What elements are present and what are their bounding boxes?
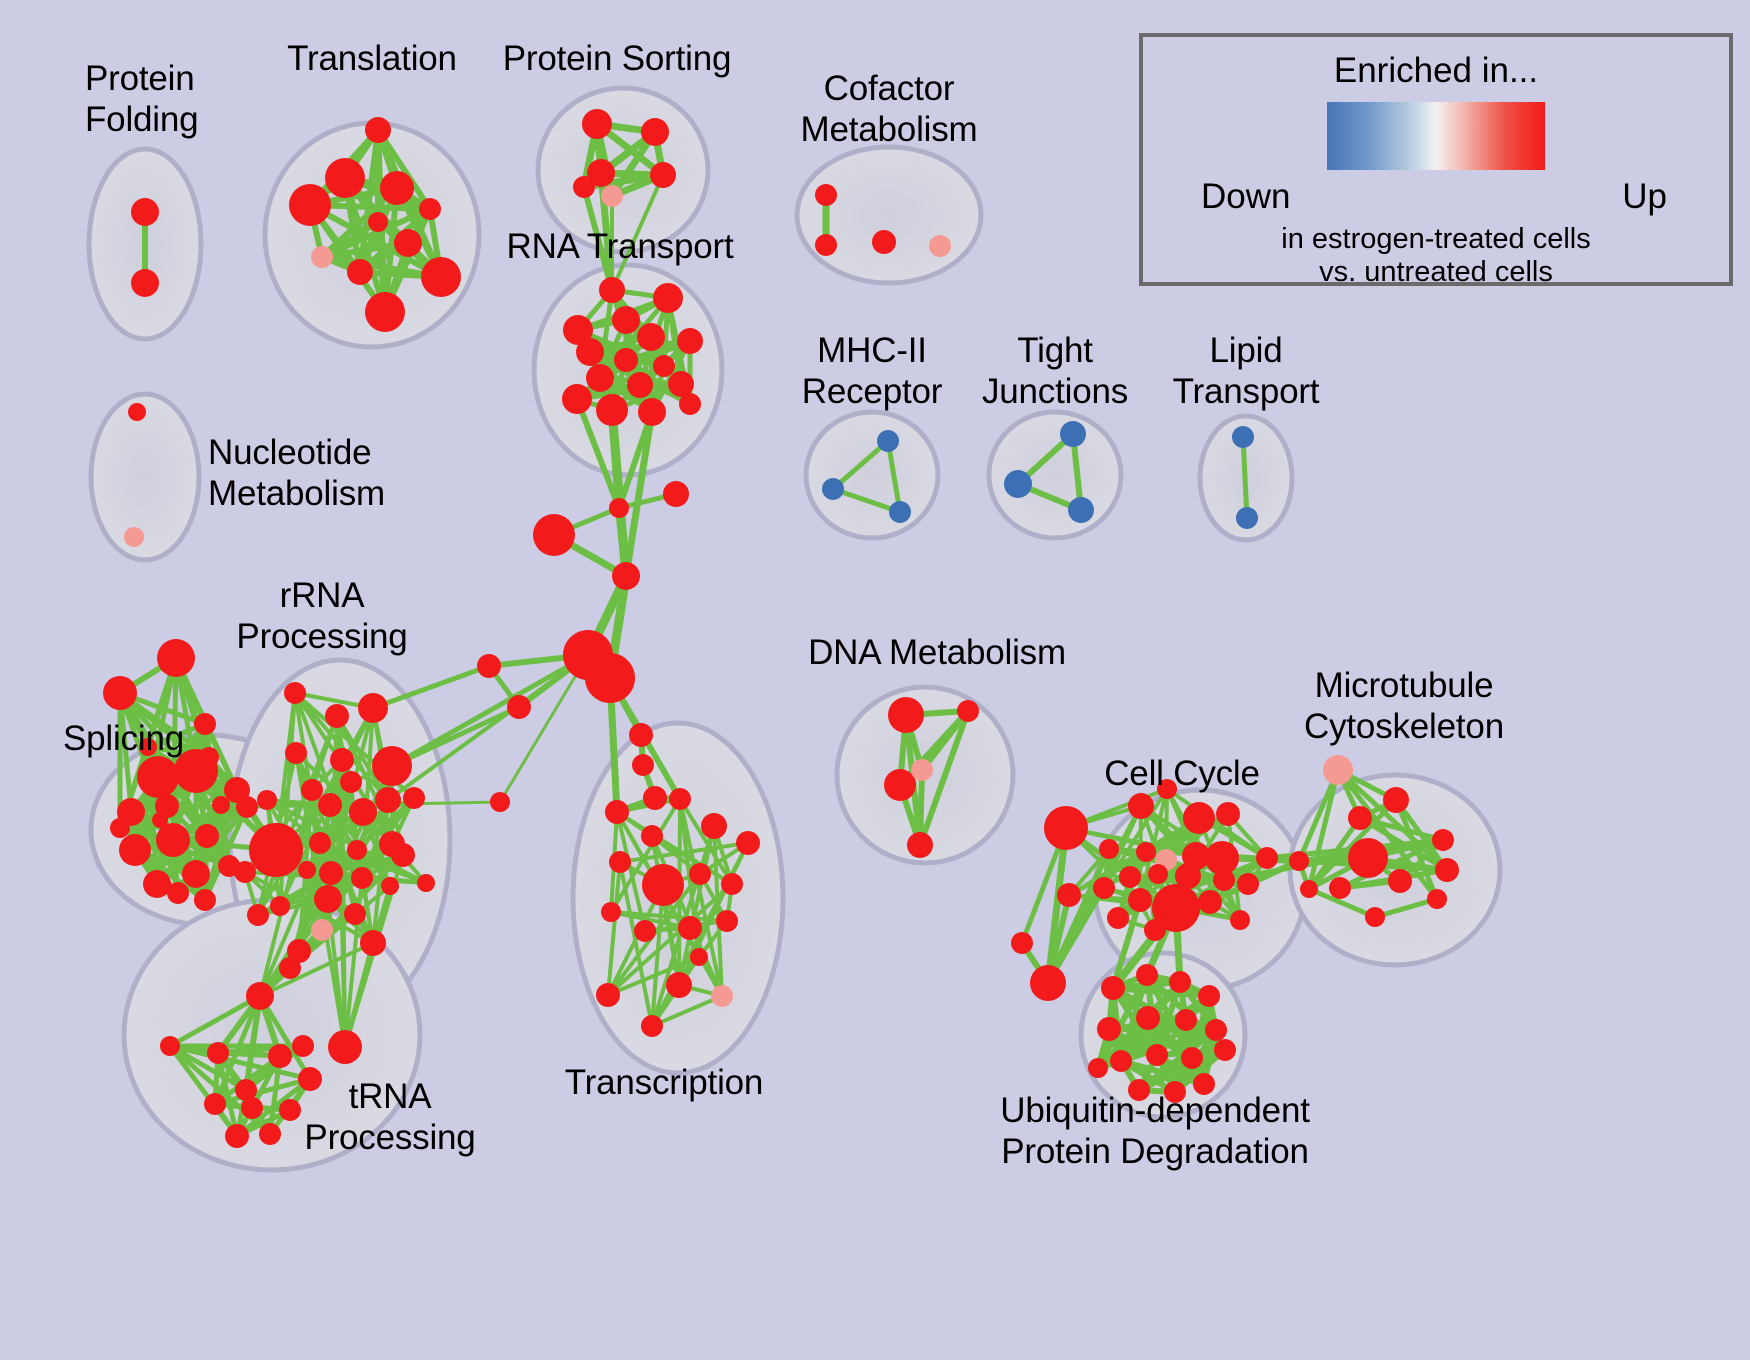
network-node — [1183, 802, 1215, 834]
network-node — [212, 796, 230, 814]
network-node — [325, 704, 349, 728]
network-node — [156, 823, 190, 857]
network-node — [340, 771, 362, 793]
network-node — [1093, 877, 1115, 899]
network-node — [533, 514, 575, 556]
network-node — [911, 759, 933, 781]
network-node — [314, 885, 342, 913]
network-node — [689, 863, 711, 885]
network-node — [612, 562, 640, 590]
network-node — [1144, 919, 1166, 941]
network-node — [1432, 829, 1454, 851]
network-node — [1198, 890, 1222, 914]
legend-color-bar — [1327, 102, 1545, 170]
network-node — [1329, 877, 1351, 899]
network-node — [1383, 787, 1409, 813]
network-node — [1348, 838, 1388, 878]
network-node — [194, 889, 216, 911]
network-node — [311, 246, 333, 268]
network-node — [1004, 470, 1032, 498]
network-node — [1236, 507, 1258, 529]
network-node — [663, 481, 689, 507]
network-node — [1348, 806, 1372, 830]
network-node — [1256, 847, 1278, 869]
network-node — [1119, 866, 1141, 888]
network-node — [1169, 971, 1191, 993]
network-node — [929, 235, 951, 257]
network-node — [907, 832, 933, 858]
network-node — [1128, 888, 1152, 912]
network-node — [599, 277, 625, 303]
network-node — [690, 948, 708, 966]
network-node — [351, 867, 373, 889]
network-node — [358, 693, 388, 723]
network-node — [1107, 907, 1129, 929]
network-node — [1110, 1050, 1132, 1072]
network-node — [365, 292, 405, 332]
enrichment-network-figure: Protein FoldingTranslationProtein Sortin… — [0, 0, 1750, 1360]
network-node — [653, 283, 683, 313]
network-node — [634, 920, 656, 942]
cluster-label: tRNA Processing — [304, 1076, 475, 1158]
network-node — [1057, 883, 1081, 907]
network-node — [225, 1124, 249, 1148]
network-node — [1060, 421, 1086, 447]
cluster-label: Translation — [287, 38, 457, 79]
network-node — [380, 171, 414, 205]
network-node — [884, 769, 916, 801]
network-node — [301, 779, 323, 801]
network-node — [182, 860, 210, 888]
network-node — [1237, 873, 1259, 895]
network-node — [167, 882, 189, 904]
cluster-label: Splicing — [63, 718, 184, 759]
network-node — [716, 910, 738, 932]
network-node — [1097, 1017, 1121, 1041]
network-node — [236, 796, 258, 818]
network-node — [490, 792, 510, 812]
network-node — [137, 756, 179, 798]
network-node — [372, 746, 412, 786]
network-node — [1099, 839, 1119, 859]
network-node — [194, 713, 216, 735]
network-node — [1427, 889, 1447, 909]
network-node — [1289, 851, 1309, 871]
network-node — [641, 1015, 663, 1037]
network-node — [477, 654, 501, 678]
network-node — [1435, 858, 1459, 882]
network-node — [609, 498, 629, 518]
network-node — [131, 198, 159, 226]
network-node — [957, 700, 979, 722]
legend-subtitle-line2: vs. untreated cells — [1143, 256, 1729, 289]
network-node — [325, 158, 365, 198]
network-node — [638, 398, 666, 426]
network-node — [612, 306, 640, 334]
network-node — [507, 695, 531, 719]
cluster-label: RNA Transport — [507, 226, 734, 267]
network-node — [586, 364, 614, 392]
network-node — [1323, 755, 1353, 785]
network-node — [877, 430, 899, 452]
network-node — [270, 896, 290, 916]
network-node — [330, 748, 354, 772]
network-node — [311, 919, 333, 941]
network-node — [319, 861, 343, 885]
cluster-label: Microtubule Cytoskeleton — [1304, 665, 1504, 747]
network-node — [669, 788, 691, 810]
cluster-label: Protein Sorting — [503, 38, 732, 79]
network-node — [257, 790, 277, 810]
network-node — [1214, 1039, 1236, 1061]
network-node — [822, 478, 844, 500]
network-node — [349, 798, 377, 826]
network-node — [1128, 793, 1154, 819]
network-node — [391, 843, 415, 867]
network-node — [1181, 1047, 1203, 1069]
network-node — [815, 234, 837, 256]
network-node — [1030, 965, 1066, 1001]
network-node — [1175, 1009, 1197, 1031]
cluster-label: MHC-II Receptor — [802, 330, 942, 412]
network-node — [298, 861, 316, 879]
network-node — [318, 793, 342, 817]
network-node — [1365, 907, 1385, 927]
network-node — [246, 982, 274, 1010]
cluster-hull — [91, 394, 199, 560]
network-node — [629, 723, 653, 747]
network-node — [375, 787, 401, 813]
network-node — [1205, 1019, 1227, 1041]
cluster-label: Lipid Transport — [1173, 330, 1320, 412]
network-node — [650, 162, 676, 188]
network-node — [1136, 1006, 1160, 1030]
network-node — [601, 185, 623, 207]
network-node — [1216, 802, 1240, 826]
network-node — [309, 832, 331, 854]
network-node — [1136, 964, 1158, 986]
network-node — [1213, 869, 1235, 891]
network-node — [641, 118, 669, 146]
cluster-label: Cofactor Metabolism — [801, 68, 978, 150]
network-node — [627, 372, 653, 398]
network-node — [207, 1042, 229, 1064]
network-node — [124, 527, 144, 547]
network-node — [677, 328, 703, 354]
network-node — [596, 394, 628, 426]
network-node — [888, 697, 924, 733]
network-node — [678, 916, 702, 940]
network-node — [241, 1097, 263, 1119]
network-node — [419, 198, 441, 220]
cluster-label: Transcription — [565, 1062, 763, 1103]
legend-box: Enriched in... Down Up in estrogen-treat… — [1139, 33, 1733, 286]
network-node — [417, 874, 435, 892]
network-node — [368, 212, 388, 232]
network-node — [110, 818, 130, 838]
network-node — [1230, 910, 1250, 930]
cluster-label: Protein Folding — [85, 58, 198, 140]
network-node — [328, 1030, 362, 1064]
network-node — [347, 840, 367, 860]
network-node — [614, 348, 638, 372]
cluster-label: Nucleotide Metabolism — [208, 432, 385, 514]
network-node — [576, 338, 604, 366]
network-node — [195, 824, 219, 848]
network-node — [653, 355, 675, 377]
network-node — [1011, 932, 1033, 954]
network-node — [360, 930, 386, 956]
network-node — [249, 823, 303, 877]
network-node — [204, 1093, 226, 1115]
network-node — [1232, 426, 1254, 448]
network-node — [582, 109, 612, 139]
network-node — [1146, 1044, 1168, 1066]
cluster-label: Cell Cycle — [1104, 753, 1260, 794]
network-node — [642, 864, 684, 906]
cluster-hull — [806, 412, 938, 538]
network-node — [641, 825, 663, 847]
network-node — [679, 393, 701, 415]
network-node — [143, 870, 171, 898]
network-node — [666, 972, 692, 998]
network-node — [562, 384, 592, 414]
network-node — [128, 403, 146, 421]
network-node — [601, 902, 621, 922]
network-node — [365, 117, 391, 143]
network-node — [285, 742, 307, 764]
network-node — [157, 639, 195, 677]
network-node — [1300, 880, 1318, 898]
network-node — [736, 831, 760, 855]
legend-title: Enriched in... — [1143, 51, 1729, 91]
network-node — [160, 1036, 180, 1056]
network-node — [632, 754, 654, 776]
network-node — [711, 985, 733, 1007]
network-node — [284, 682, 306, 704]
network-node — [643, 786, 667, 810]
network-node — [585, 653, 635, 703]
network-node — [721, 873, 743, 895]
network-node — [605, 800, 629, 824]
network-node — [403, 787, 425, 809]
network-node — [394, 229, 422, 257]
cluster-label: rRNA Processing — [236, 575, 407, 657]
network-node — [1068, 497, 1094, 523]
network-node — [344, 903, 366, 925]
network-node — [609, 851, 631, 873]
network-node — [1136, 842, 1156, 862]
legend-up-label: Up — [1622, 177, 1667, 217]
network-node — [279, 957, 301, 979]
cluster-label: Ubiquitin-dependent Protein Degradation — [1000, 1090, 1310, 1172]
network-node — [119, 834, 151, 866]
network-node — [1101, 976, 1125, 1000]
legend-subtitle-line1: in estrogen-treated cells — [1143, 223, 1729, 256]
network-node — [289, 184, 331, 226]
network-node — [103, 676, 137, 710]
network-node — [381, 877, 399, 895]
cluster-label: Tight Junctions — [982, 330, 1128, 412]
network-node — [1044, 806, 1088, 850]
network-node — [234, 861, 256, 883]
network-node — [292, 1035, 314, 1057]
network-node — [279, 1099, 301, 1121]
legend-down-label: Down — [1201, 177, 1290, 217]
network-node — [889, 501, 911, 523]
network-node — [259, 1123, 281, 1145]
cluster-label: DNA Metabolism — [808, 632, 1066, 673]
network-node — [347, 259, 373, 285]
network-node — [421, 257, 461, 297]
network-node — [573, 176, 595, 198]
network-node — [1198, 985, 1220, 1007]
network-node — [268, 1044, 292, 1068]
network-node — [872, 230, 896, 254]
network-node — [596, 983, 620, 1007]
network-node — [247, 904, 269, 926]
network-node — [701, 813, 727, 839]
network-node — [637, 323, 665, 351]
network-node — [152, 812, 168, 828]
network-node — [1088, 1058, 1108, 1078]
network-node — [131, 269, 159, 297]
network-node — [1148, 864, 1168, 884]
network-node — [1388, 869, 1412, 893]
network-node — [815, 184, 837, 206]
